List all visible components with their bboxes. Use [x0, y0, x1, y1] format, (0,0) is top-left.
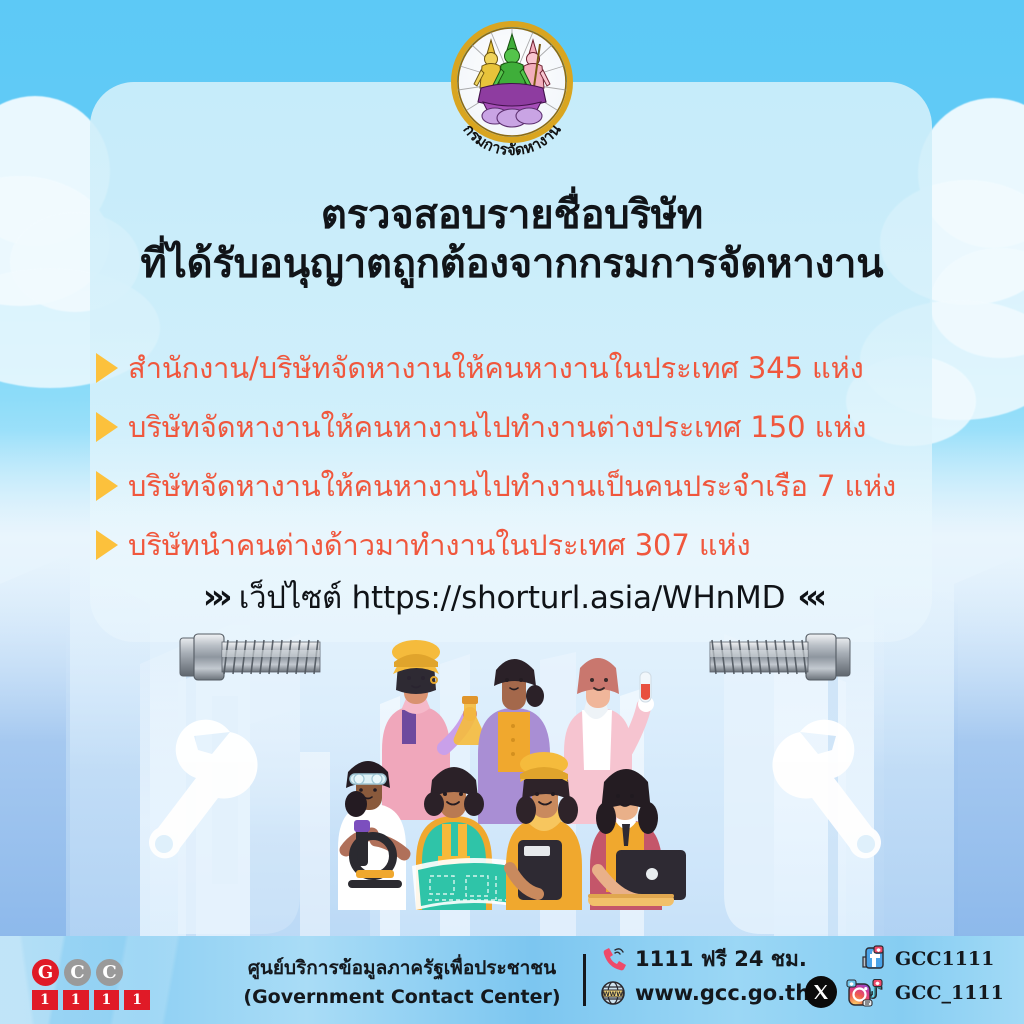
gcc-logo-letter: G	[32, 959, 59, 986]
social-row[interactable]: GCC1111	[860, 942, 1004, 976]
org-name-thai: ศูนย์บริการข้อมูลภาครัฐเพื่อประชาชน	[228, 954, 576, 983]
contact-row[interactable]: WWW www.gcc.go.th	[600, 976, 810, 1010]
instagram-icon[interactable]	[845, 978, 875, 1008]
title-line-2: ที่ได้รับอนุญาตถูกต้องจากกรมการจัดหางาน	[0, 241, 1024, 288]
website-address: www.gcc.go.th	[635, 981, 810, 1005]
list-item-label: บริษัทนำคนต่างด้าวมาทำงานในประเทศ 307 แห…	[128, 522, 751, 568]
statistics-list: สำนักงาน/บริษัทจัดหางานให้คนหางานในประเท…	[96, 338, 956, 574]
gcc-logo-digit: 1	[63, 990, 89, 1010]
gcc-logo-letter: C	[96, 959, 123, 986]
tiktok-handle: GCC_1111	[895, 982, 1004, 1004]
list-item-label: สำนักงาน/บริษัทจัดหางานให้คนหางานในประเท…	[128, 345, 864, 391]
triangle-bullet-icon	[96, 471, 118, 501]
org-name-english: (Government Contact Center)	[228, 983, 576, 1012]
wrench-icon	[118, 712, 264, 878]
gcc-logo-digit: 1	[94, 990, 120, 1010]
group-of-female-professionals	[330, 618, 702, 910]
gcc-logo-digit: 1	[32, 990, 58, 1010]
footer-divider	[583, 954, 586, 1006]
list-item: บริษัทนำคนต่างด้าวมาทำงานในประเทศ 307 แห…	[96, 515, 956, 574]
footer-bar: G C C 1 1 1 1 ศูนย์บริการข้อมูลภาครัฐเพื…	[0, 936, 1024, 1024]
list-item: บริษัทจัดหางานให้คนหางานไปทำงานต่างประเท…	[96, 397, 956, 456]
x-twitter-icon[interactable]	[805, 976, 837, 1008]
website-url-link[interactable]: เว็ปไซต์ https://shorturl.asia/WHnMD	[239, 572, 786, 622]
chevrons-left-icon: ‹«	[797, 577, 821, 617]
gcc-logo-digit: 1	[124, 990, 150, 1010]
department-of-employment-seal: กรมการจัดหางาน	[437, 14, 587, 164]
test-tube-icon	[640, 672, 651, 702]
wrench-icon	[766, 712, 912, 878]
contact-info: 1111 ฟรี 24 ชม. WWW www.gcc.go.th	[600, 942, 810, 1010]
bolt-screw-icon	[178, 630, 326, 684]
phone-ringing-icon	[600, 946, 626, 972]
list-item-label: บริษัทจัดหางานให้คนหางานไปทำงานต่างประเท…	[128, 404, 866, 450]
organization-name: ศูนย์บริการข้อมูลภาครัฐเพื่อประชาชน (Gov…	[228, 954, 576, 1012]
list-item: สำนักงาน/บริษัทจัดหางานให้คนหางานในประเท…	[96, 338, 956, 397]
list-item-label: บริษัทจัดหางานให้คนหางานไปทำงานเป็นคนประ…	[128, 463, 896, 509]
globe-www-icon: WWW	[600, 980, 626, 1006]
facebook-icon	[860, 945, 888, 973]
bolt-screw-icon	[704, 630, 852, 684]
chevrons-right-icon: »›	[203, 577, 227, 617]
triangle-bullet-icon	[96, 412, 118, 442]
website-callout: »› เว็ปไซต์ https://shorturl.asia/WHnMD …	[0, 572, 1024, 622]
phone-number: 1111 ฟรี 24 ชม.	[635, 943, 807, 976]
title-line-1: ตรวจสอบรายชื่อบริษัท	[0, 192, 1024, 239]
social-row[interactable]: GCC_1111	[860, 976, 1004, 1010]
triangle-bullet-icon	[96, 530, 118, 560]
contact-row[interactable]: 1111 ฟรี 24 ชม.	[600, 942, 810, 976]
list-item: บริษัทจัดหางานให้คนหางานไปทำงานเป็นคนประ…	[96, 456, 956, 515]
triangle-bullet-icon	[96, 353, 118, 383]
office-worker-with-laptop	[590, 769, 686, 910]
infographic-canvas: กรมการจัดหางาน ตรวจสอบรายชื่อบริษัท ที่ไ…	[0, 0, 1024, 1024]
rolled-blueprint-icon	[588, 894, 674, 906]
gcc-logo: G C C 1 1 1 1	[32, 959, 150, 1010]
social-links: GCC1111 GCC_1111	[860, 942, 1004, 1010]
page-title: ตรวจสอบรายชื่อบริษัท ที่ได้รับอนุญาตถูกต…	[0, 192, 1024, 288]
gcc-logo-letter: C	[64, 959, 91, 986]
svg-text:WWW: WWW	[603, 991, 623, 998]
facebook-handle: GCC1111	[895, 948, 994, 970]
